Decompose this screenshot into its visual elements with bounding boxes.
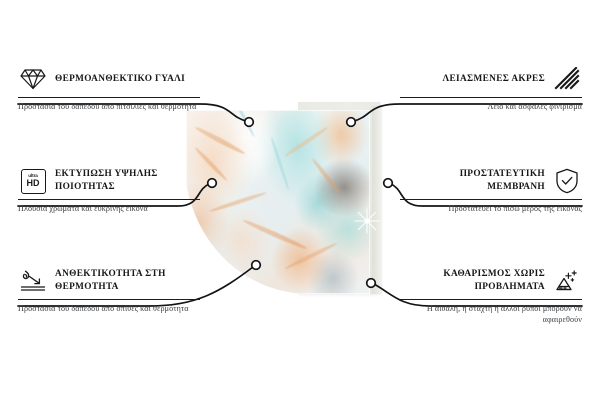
infographic-page: ΘΕΡΜΟΑΝΘΕΚΤΙΚΟ ΓΥΑΛΙ Προστασία του δαπέδ…	[0, 0, 600, 400]
product-image	[186, 104, 394, 300]
diamond-icon	[18, 66, 48, 93]
feature-divider	[18, 299, 200, 300]
feature-header: ΠΡΟΣΤΑΤΕΥΤΙΚΗ ΜΕΜΒΡΑΝΗ	[400, 166, 582, 196]
feature-description: Πλούσια χρώματα και ευκρινής εικόνα	[18, 204, 200, 215]
feature-title: ΠΡΟΣΤΑΤΕΥΤΙΚΗ ΜΕΜΒΡΑΝΗ	[400, 168, 545, 193]
feature-description: Προστατεύει το πίσω μέρος της εικόνας	[400, 204, 582, 215]
diagonal-stripes-icon	[552, 66, 582, 93]
feature-protective-membrane: ΠΡΟΣΤΑΤΕΥΤΙΚΗ ΜΕΜΒΡΑΝΗ Προστατεύει το πί…	[400, 166, 582, 215]
feature-header: ultra HD ΕΚΤΥΠΩΣΗ ΥΨΗΛΗΣ ΠΟΙΟΤΗΤΑΣ	[18, 166, 200, 196]
feature-heat-resistance: ΑΝΘΕΚΤΙΚΟΤΗΤΑ ΣΤΗ ΘΕΡΜΟΤΗΤΑ Προστασία το…	[18, 266, 200, 315]
feature-title: ΚΑΘΑΡΙΣΜΟΣ ΧΩΡΙΣ ΠΡΟΒΛΗΜΑΤΑ	[400, 268, 545, 293]
feature-header: ΛΕΙΑΣΜΕΝΕΣ ΑΚΡΕΣ	[400, 64, 582, 94]
shield-check-icon	[552, 168, 582, 195]
feature-smoothed-edges: ΛΕΙΑΣΜΕΝΕΣ ΑΚΡΕΣ Λείο και ασφαλές φινίρι…	[400, 64, 582, 113]
feature-divider	[400, 97, 582, 98]
feature-heat-proof-glass: ΘΕΡΜΟΑΝΘΕΚΤΙΚΟ ΓΥΑΛΙ Προστασία του δαπέδ…	[18, 64, 200, 113]
feature-title: ΘΕΡΜΟΑΝΘΕΚΤΙΚΟ ΓΥΑΛΙ	[55, 73, 185, 86]
sponge-sparkle-icon	[552, 268, 582, 295]
glass-edge-highlight	[186, 110, 370, 294]
feature-divider	[18, 199, 200, 200]
feature-trouble-free-cleaning: ΚΑΘΑΡΙΣΜΟΣ ΧΩΡΙΣ ΠΡΟΒΛΗΜΑΤΑ Η αιθάλη, η …	[400, 266, 582, 325]
feature-divider	[18, 97, 200, 98]
feature-header: ΑΝΘΕΚΤΙΚΟΤΗΤΑ ΣΤΗ ΘΕΡΜΟΤΗΤΑ	[18, 266, 200, 296]
ultra-hd-icon: ultra HD	[18, 168, 48, 195]
feature-header: ΘΕΡΜΟΑΝΘΕΚΤΙΚΟ ΓΥΑΛΙ	[18, 64, 200, 94]
feature-description: Προστασία του δαπέδου από σπίθες και θερ…	[18, 304, 200, 315]
feature-description: Η αιθάλη, η στάχτη ή άλλοι ρύποι μπορούν…	[400, 304, 582, 325]
feature-description: Προστασία του δαπέδου από πιτσιλιές και …	[18, 102, 200, 113]
product-back-panel-edge	[372, 106, 382, 294]
feature-title: ΛΕΙΑΣΜΕΝΕΣ ΑΚΡΕΣ	[442, 73, 545, 86]
feature-header: ΚΑΘΑΡΙΣΜΟΣ ΧΩΡΙΣ ΠΡΟΒΛΗΜΑΤΑ	[400, 266, 582, 296]
flame-deflect-icon	[18, 268, 48, 295]
feature-divider	[400, 299, 582, 300]
ultra-hd-large-label: HD	[27, 179, 40, 188]
glass-panel	[186, 104, 394, 300]
feature-description: Λείο και ασφαλές φινίρισμα	[400, 102, 582, 113]
feature-high-quality-print: ultra HD ΕΚΤΥΠΩΣΗ ΥΨΗΛΗΣ ΠΟΙΟΤΗΤΑΣ Πλούσ…	[18, 166, 200, 215]
feature-divider	[400, 199, 582, 200]
feature-title: ΑΝΘΕΚΤΙΚΟΤΗΤΑ ΣΤΗ ΘΕΡΜΟΤΗΤΑ	[55, 268, 200, 293]
feature-title: ΕΚΤΥΠΩΣΗ ΥΨΗΛΗΣ ΠΟΙΟΤΗΤΑΣ	[55, 168, 200, 193]
